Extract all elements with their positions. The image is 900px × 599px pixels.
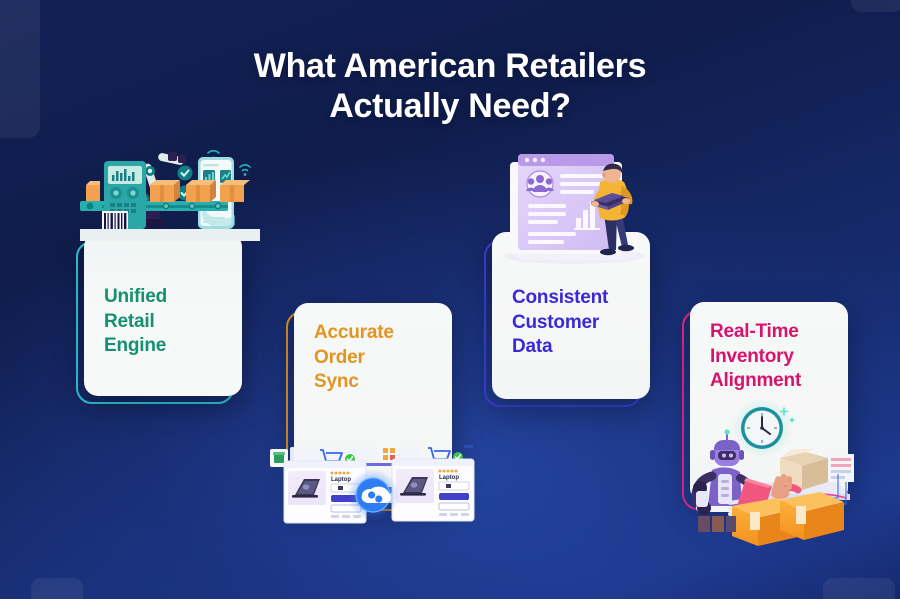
corner-block-top-right (851, 0, 900, 12)
illustration-factory-conveyor (80, 149, 260, 241)
illustration-robot-inventory (688, 396, 864, 546)
corner-block-bottom-left (31, 578, 83, 599)
illustration-customer-dashboard (496, 152, 656, 264)
page-title-line-2: Actually Need? (0, 86, 900, 126)
card-title: Unified Retail Engine (104, 285, 167, 359)
card-surface: Accurate Order Sync (294, 303, 452, 503)
card-title: Consistent Customer Data (512, 286, 608, 360)
card-real-time-inventory-alignment[interactable]: Real-Time Inventory Alignment (682, 310, 840, 510)
page-title-line-1: What American Retailers (254, 47, 646, 85)
card-consistent-customer-data[interactable]: Consistent Customer Data (484, 240, 642, 407)
illustration-order-sync: Laptop (268, 443, 478, 539)
card-accurate-order-sync[interactable]: Accurate Order Sync (286, 311, 444, 511)
card-surface: Unified Retail Engine (84, 233, 242, 396)
card-surface: Consistent Customer Data (492, 232, 650, 399)
corner-block-bottom-right (823, 578, 895, 599)
card-title: Real-Time Inventory Alignment (710, 320, 801, 394)
product-name-right: Laptop (439, 475, 459, 481)
card-unified-retail-engine[interactable]: Unified Retail Engine (76, 241, 234, 404)
card-surface: Real-Time Inventory Alignment (690, 302, 848, 502)
card-title: Accurate Order Sync (314, 321, 394, 395)
page-title: What American Retailers Actually Need? (0, 46, 900, 126)
slide-canvas: What American Retailers Actually Need? (0, 0, 900, 599)
product-name-left: Laptop (331, 477, 351, 483)
